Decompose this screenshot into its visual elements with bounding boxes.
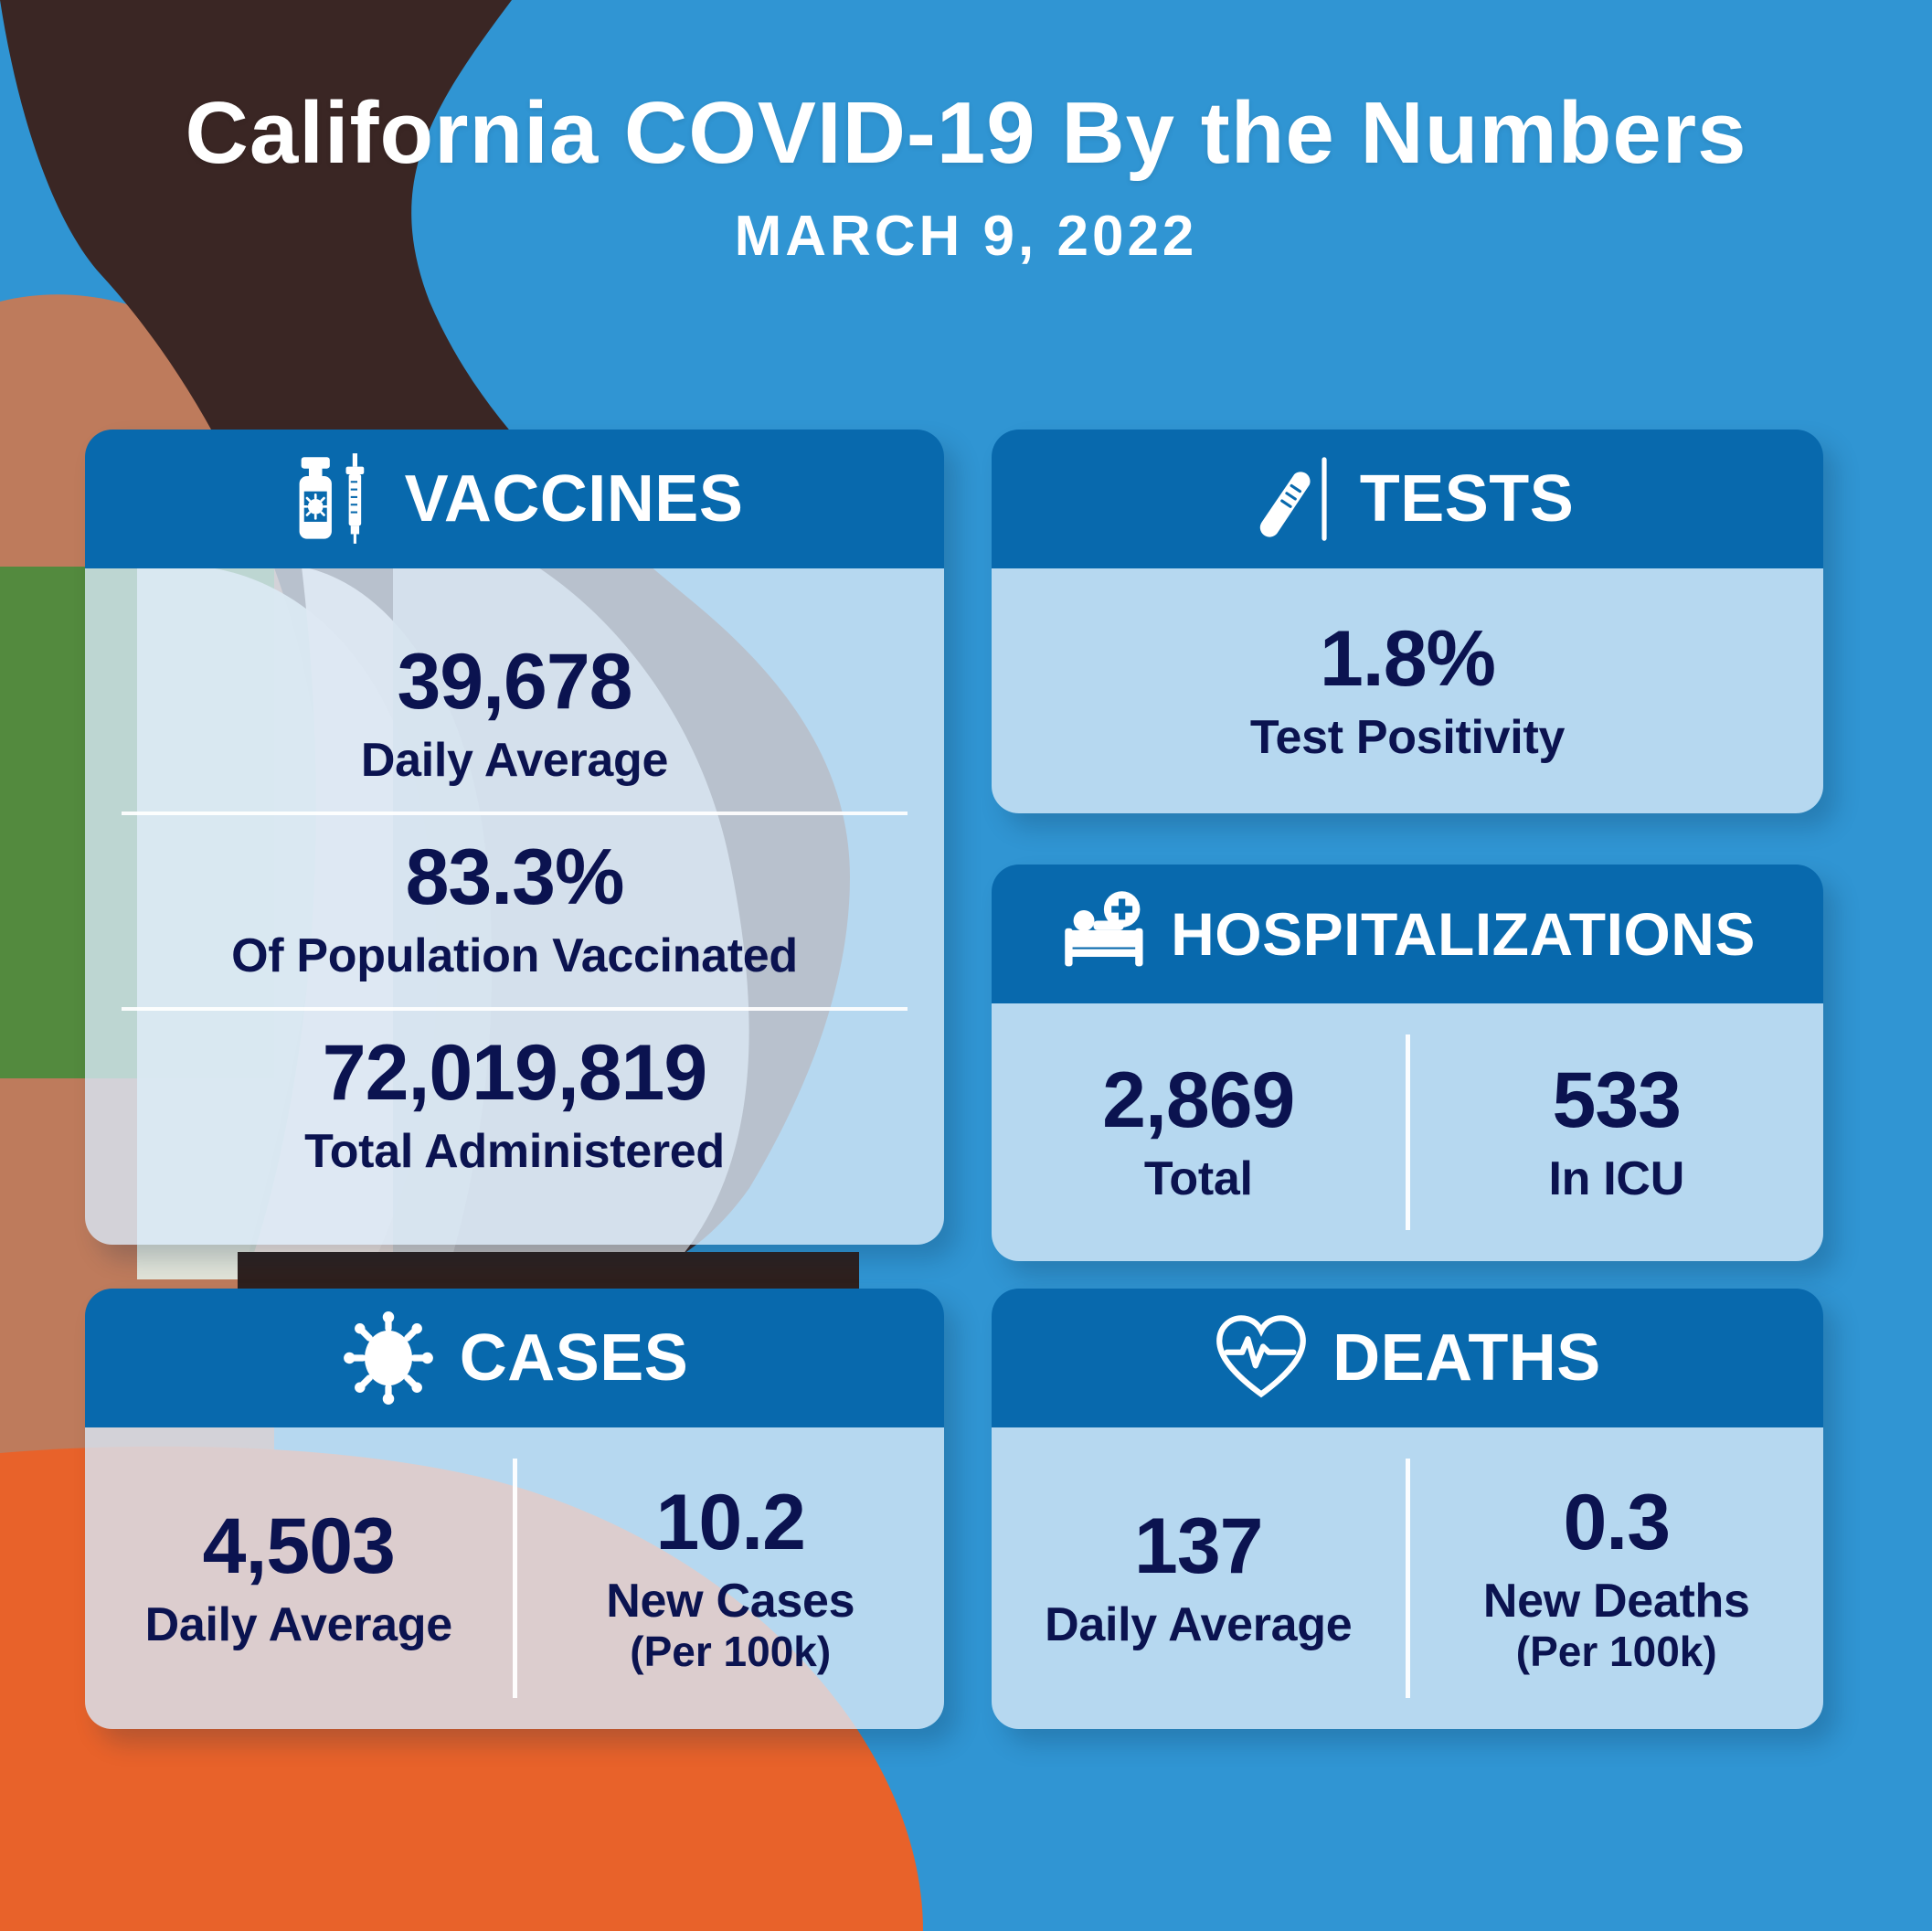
- stat-label: New Cases: [606, 1575, 855, 1629]
- vaccine-vial-syringe-icon: [286, 451, 381, 546]
- stat-sublabel: (Per 100k): [630, 1629, 831, 1676]
- card-vaccines-header: VACCINES: [85, 430, 944, 568]
- card-tests-title: TESTS: [1360, 462, 1575, 536]
- card-hospitalizations-header: HOSPITALIZATIONS: [992, 865, 1823, 1003]
- card-cases-title: CASES: [460, 1321, 689, 1395]
- stat-sublabel: (Per 100k): [1516, 1629, 1717, 1676]
- stat-value: 72,019,819: [122, 1031, 908, 1116]
- stat-deaths-new-per-100k: 0.3 New Deaths (Per 100k): [1410, 1427, 1824, 1729]
- card-hospitalizations[interactable]: HOSPITALIZATIONS 2,869 Total 533 In ICU: [992, 865, 1823, 1261]
- card-tests[interactable]: TESTS 1.8% Test Positivity: [992, 430, 1823, 813]
- coronavirus-icon: [341, 1310, 436, 1406]
- stat-label: New Deaths: [1483, 1575, 1750, 1629]
- heart-pulse-icon: [1214, 1310, 1309, 1406]
- card-cases-body: 4,503 Daily Average 10.2 New Cases (Per …: [85, 1427, 944, 1729]
- card-vaccines[interactable]: VACCINES 39,678 Daily Average 83.3% Of P…: [85, 430, 944, 1245]
- stat-label: Test Positivity: [1250, 711, 1565, 765]
- stat-cases-daily-average: 4,503 Daily Average: [85, 1427, 513, 1729]
- stat-label: Total: [1144, 1152, 1253, 1206]
- hospital-bed-icon: [1059, 886, 1154, 981]
- test-tube-swab-icon: [1241, 451, 1336, 546]
- card-deaths-body: 137 Daily Average 0.3 New Deaths (Per 10…: [992, 1427, 1823, 1729]
- stat-value: 137: [1134, 1504, 1263, 1589]
- stat-deaths-daily-average: 137 Daily Average: [992, 1427, 1406, 1729]
- stat-value: 533: [1553, 1058, 1682, 1143]
- stat-cases-new-per-100k: 10.2 New Cases (Per 100k): [517, 1427, 945, 1729]
- stat-value: 83.3%: [122, 835, 908, 920]
- card-hospitalizations-body: 2,869 Total 533 In ICU: [992, 1003, 1823, 1261]
- card-deaths-title: DEATHS: [1332, 1321, 1601, 1395]
- stat-label: In ICU: [1549, 1152, 1684, 1206]
- stat-value: 0.3: [1563, 1480, 1670, 1565]
- stat-label: Daily Average: [145, 1598, 452, 1652]
- card-tests-header: TESTS: [992, 430, 1823, 568]
- stat-label: Daily Average: [1045, 1598, 1352, 1652]
- stat-value: 1.8%: [1250, 617, 1565, 702]
- card-hospitalizations-title: HOSPITALIZATIONS: [1171, 899, 1756, 969]
- stat-hospitalizations-total: 2,869 Total: [992, 1003, 1406, 1261]
- stat-value: 2,869: [1102, 1058, 1294, 1143]
- stat-test-positivity: 1.8% Test Positivity: [1250, 617, 1565, 765]
- stat-value: 39,678: [122, 640, 908, 725]
- card-cases[interactable]: CASES 4,503 Daily Average 10.2 New Cases…: [85, 1289, 944, 1729]
- stat-label: Of Population Vaccinated: [122, 929, 908, 983]
- card-deaths[interactable]: DEATHS 137 Daily Average 0.3 New Deaths …: [992, 1289, 1823, 1729]
- stat-hospitalizations-icu: 533 In ICU: [1410, 1003, 1824, 1261]
- page-header: California COVID-19 By the Numbers MARCH…: [0, 0, 1932, 269]
- page-title: California COVID-19 By the Numbers: [0, 88, 1932, 180]
- stat-label: Daily Average: [122, 734, 908, 788]
- stat-label: Total Administered: [122, 1125, 908, 1179]
- card-vaccines-body: 39,678 Daily Average 83.3% Of Population…: [85, 568, 944, 1245]
- stat-value: 10.2: [656, 1480, 805, 1565]
- card-vaccines-title: VACCINES: [405, 462, 744, 536]
- card-cases-header: CASES: [85, 1289, 944, 1427]
- stat-value: 4,503: [203, 1504, 395, 1589]
- stat-vaccines-daily-average: 39,678 Daily Average: [122, 609, 908, 812]
- stat-vaccines-total-administered: 72,019,819 Total Administered: [122, 1007, 908, 1203]
- report-date: MARCH 9, 2022: [0, 204, 1932, 269]
- card-tests-body: 1.8% Test Positivity: [992, 568, 1823, 813]
- stat-vaccines-population-pct: 83.3% Of Population Vaccinated: [122, 812, 908, 1007]
- card-deaths-header: DEATHS: [992, 1289, 1823, 1427]
